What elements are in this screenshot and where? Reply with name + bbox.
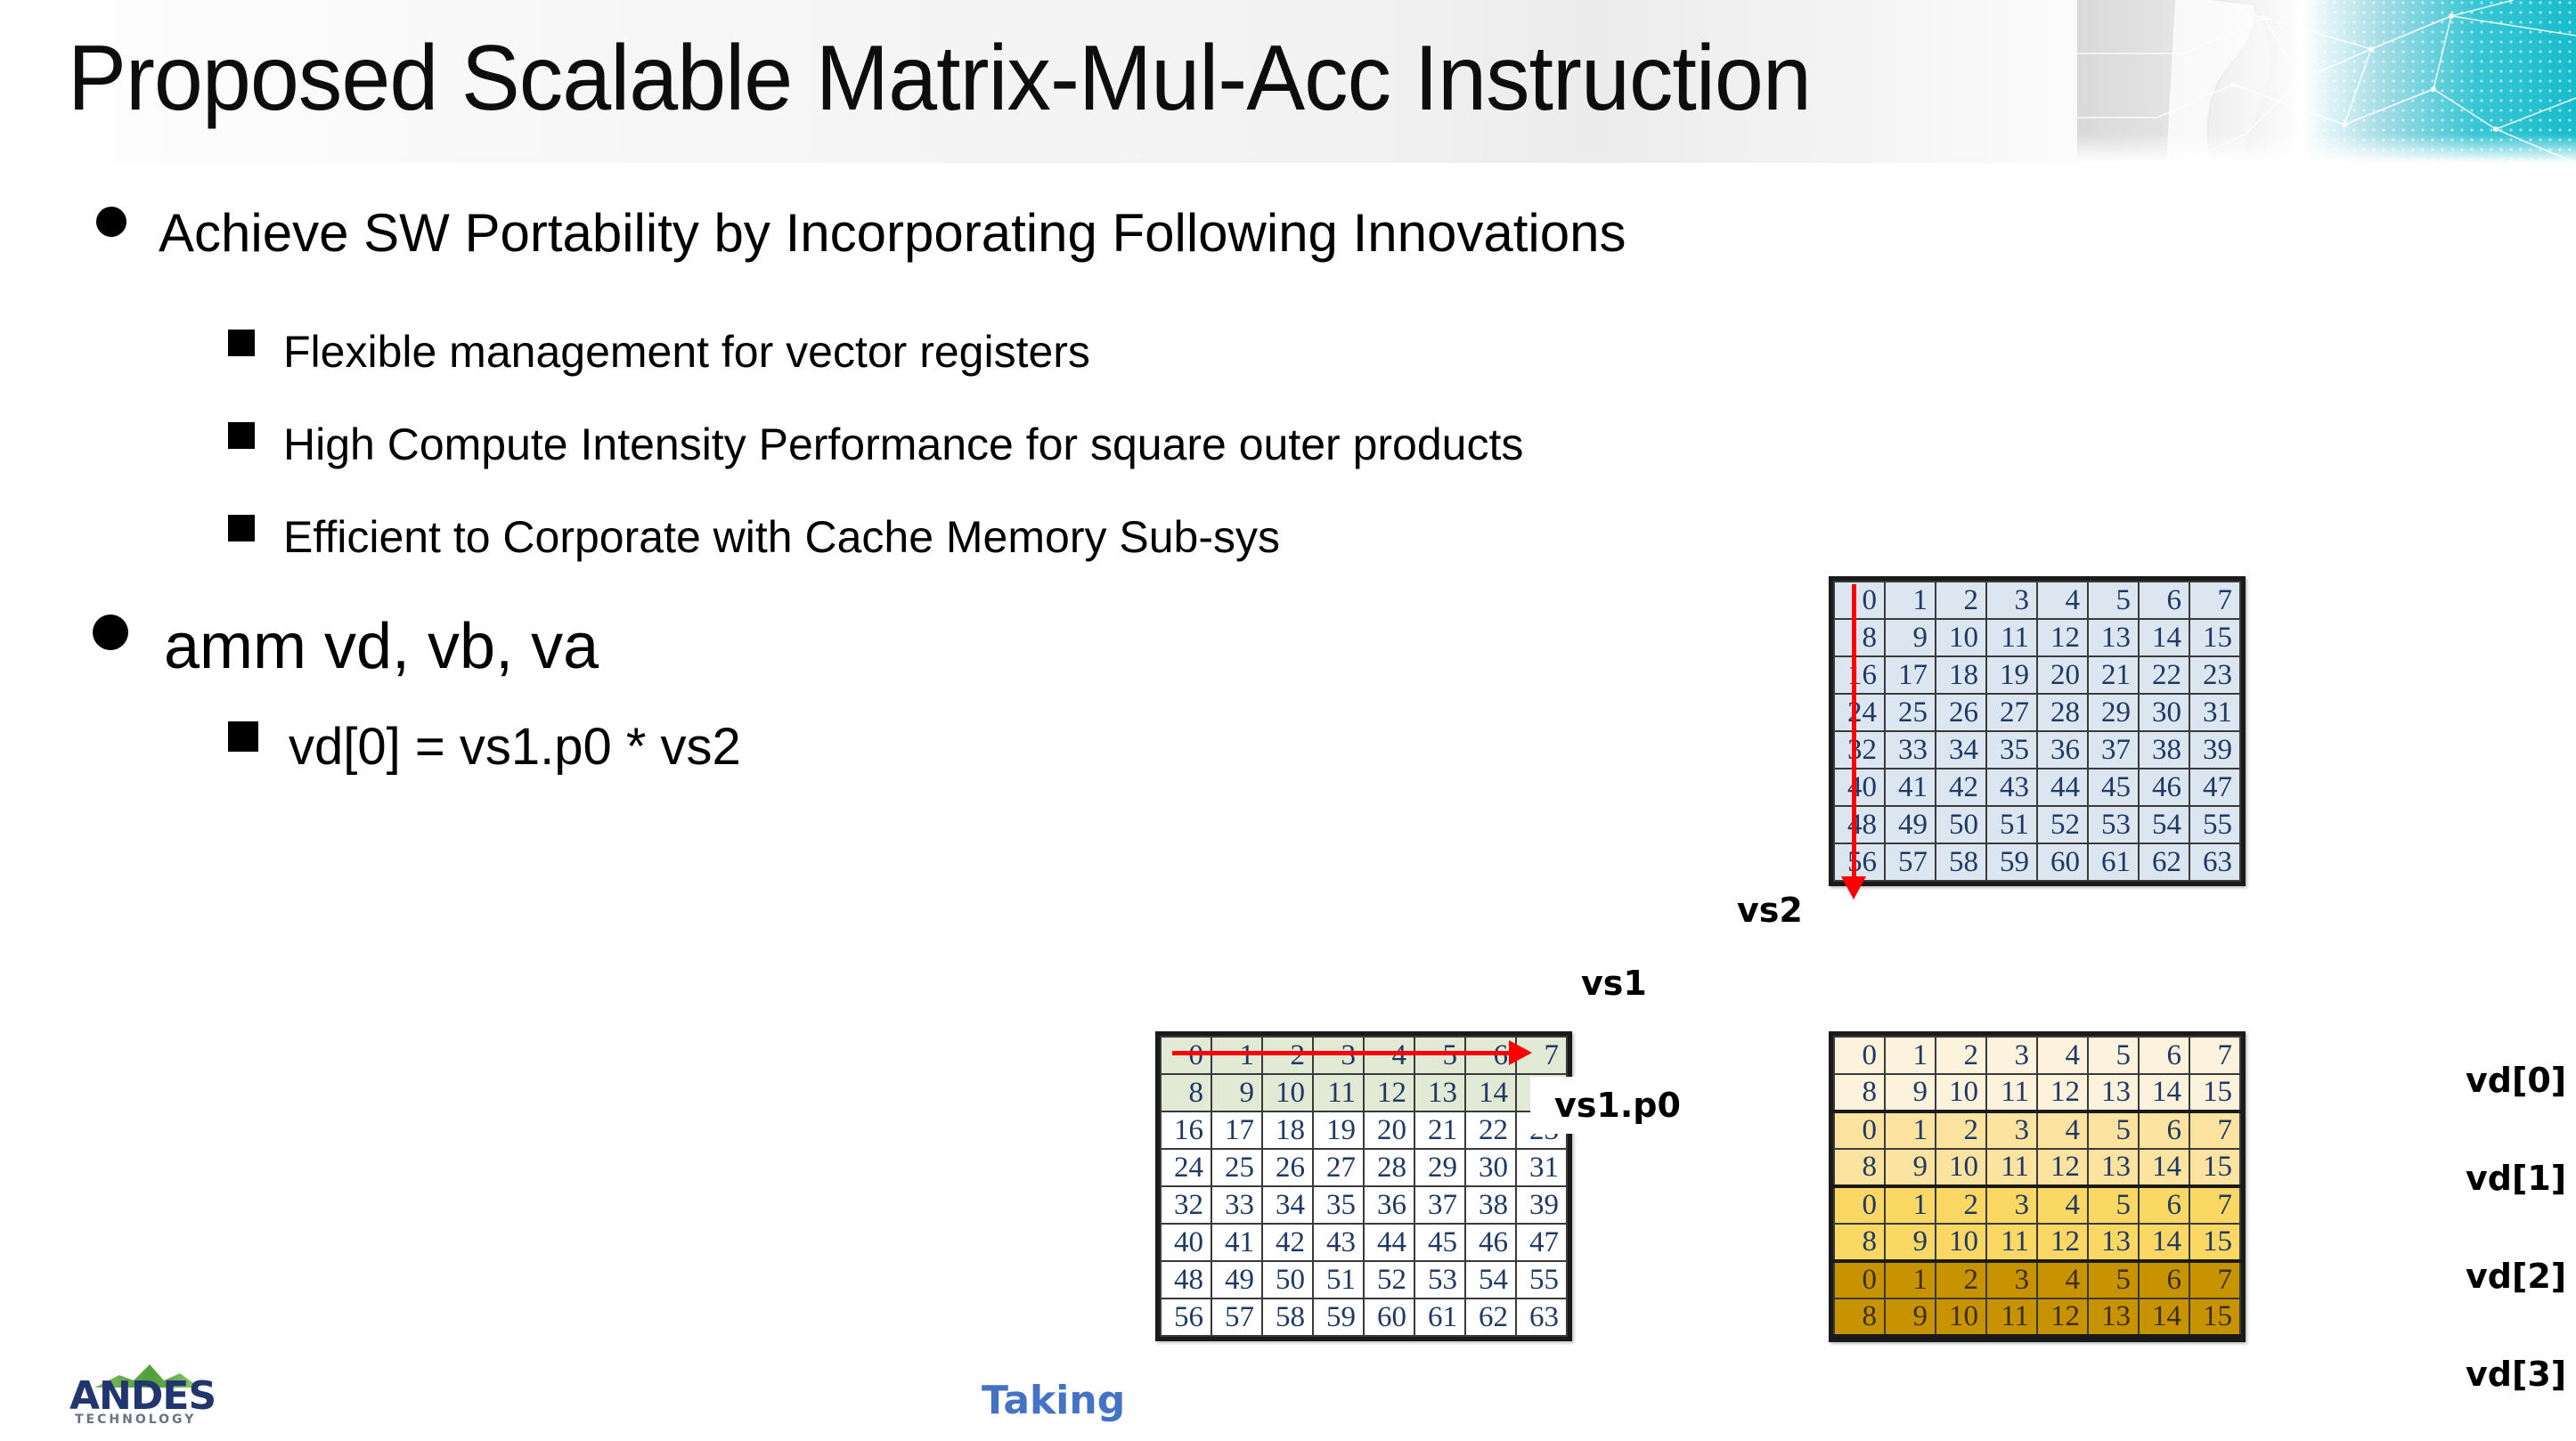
vs2-cell-r5-c1: 41	[1885, 769, 1936, 806]
vd-cell-r2-c3: 3	[1986, 1111, 2037, 1149]
vs1-cell-r7-c0: 56	[1161, 1299, 1211, 1336]
vs1-cell-r7-c6: 62	[1465, 1299, 1516, 1336]
vs2-cell-r5-c6: 46	[2139, 769, 2189, 806]
vd-cell-r2-c0: 0	[1834, 1111, 1885, 1149]
bullet-square-icon	[228, 422, 255, 449]
vd-cell-r4-c7: 7	[2189, 1186, 2240, 1224]
vs2-label: vs2	[1737, 891, 1803, 930]
vs1-cell-r1-c3: 11	[1313, 1074, 1364, 1111]
vs1-cell-r3-c3: 27	[1313, 1149, 1364, 1186]
vd-cell-r0-c0: 0	[1834, 1037, 1885, 1074]
table-row: 1617181920212223	[1161, 1111, 1567, 1149]
vs2-cell-r1-c7: 15	[2189, 619, 2240, 656]
vs2-cell-r7-c1: 57	[1885, 843, 1936, 881]
vd-label-2: vd[2]	[2466, 1257, 2566, 1296]
vd-cell-r1-c2: 10	[1936, 1074, 1986, 1111]
vs2-cell-r7-c2: 58	[1936, 843, 1986, 881]
vd-cell-r0-c1: 1	[1885, 1037, 1936, 1074]
vd-cell-r6-c6: 6	[2139, 1261, 2189, 1299]
vd-cell-r1-c0: 8	[1834, 1074, 1885, 1111]
taking-label: Taking	[982, 1378, 1125, 1423]
vs2-cell-r2-c4: 20	[2037, 656, 2088, 694]
vd-cell-r7-c6: 14	[2139, 1299, 2189, 1336]
vs2-cell-r3-c2: 26	[1936, 694, 1986, 731]
vs2-cell-r5-c7: 47	[2189, 769, 2240, 806]
bullet-item-2: amm vd, vb, va	[93, 615, 599, 679]
vd-cell-r5-c2: 10	[1936, 1224, 1986, 1261]
table-row: 3233343536373839	[1161, 1186, 1567, 1224]
table-row: 4849505152535455	[1834, 806, 2240, 843]
vd-cell-r5-c3: 11	[1986, 1224, 2037, 1261]
vs1-cell-r7-c4: 60	[1364, 1299, 1414, 1336]
svg-text:TECHNOLOGY: TECHNOLOGY	[75, 1413, 196, 1427]
vd-cell-r7-c5: 13	[2088, 1299, 2139, 1336]
table-row: 2425262728293031	[1161, 1149, 1567, 1186]
vs1-cell-r0-c0: 0	[1161, 1037, 1211, 1074]
vd-cell-r0-c6: 6	[2139, 1037, 2189, 1074]
vs1-cell-r5-c0: 40	[1161, 1224, 1211, 1261]
vs1-cell-r4-c5: 37	[1414, 1186, 1465, 1224]
vs2-cell-r6-c7: 55	[2189, 806, 2240, 843]
vd-cell-r2-c7: 7	[2189, 1111, 2240, 1149]
table-row: 89101112131415	[1834, 1224, 2240, 1261]
vs2-cell-r5-c0: 40	[1834, 769, 1885, 806]
vs2-cell-r2-c5: 21	[2088, 656, 2139, 694]
vs1-cell-r1-c4: 12	[1364, 1074, 1414, 1111]
vs2-cell-r7-c3: 59	[1986, 843, 2037, 881]
vs1-cell-r6-c4: 52	[1364, 1261, 1414, 1299]
vs2-cell-r1-c2: 10	[1936, 619, 1986, 656]
vd-cell-r5-c7: 15	[2189, 1224, 2240, 1261]
vs1-cell-r5-c4: 44	[1364, 1224, 1414, 1261]
vs1-cell-r2-c6: 22	[1465, 1111, 1516, 1149]
vd-cell-r6-c7: 7	[2189, 1261, 2240, 1299]
vd-cell-r3-c1: 9	[1885, 1149, 1936, 1186]
vd-label-0: vd[0]	[2466, 1061, 2566, 1100]
vs2-matrix: 0123456789101112131415161718192021222324…	[1829, 576, 2246, 886]
vd-cell-r7-c7: 15	[2189, 1299, 2240, 1336]
vs2-cell-r6-c2: 50	[1936, 806, 1986, 843]
vd-cell-r4-c2: 2	[1936, 1186, 1986, 1224]
vs1-cell-r2-c4: 20	[1364, 1111, 1414, 1149]
vd-cell-r6-c5: 5	[2088, 1261, 2139, 1299]
vs1-cell-r1-c6: 14	[1465, 1074, 1516, 1111]
vs2-cell-r5-c4: 44	[2037, 769, 2088, 806]
vs1-cell-r6-c2: 50	[1262, 1261, 1313, 1299]
arrowhead-right-icon	[1509, 1040, 1532, 1065]
vs1-cell-r3-c0: 24	[1161, 1149, 1211, 1186]
vd-cell-r6-c4: 4	[2037, 1261, 2088, 1299]
vs2-cell-r3-c6: 30	[2139, 694, 2189, 731]
vs1-matrix: 0123456789101112131415161718192021222324…	[1155, 1031, 1572, 1341]
vs2-cell-r0-c2: 2	[1936, 582, 1986, 619]
vd-cell-r6-c0: 0	[1834, 1261, 1885, 1299]
vs1-table: 0123456789101112131415161718192021222324…	[1160, 1036, 1568, 1337]
vs2-column-arrow-icon	[1852, 584, 1856, 878]
vs2-cell-r7-c5: 61	[2088, 843, 2139, 881]
vs1-cell-r0-c2: 2	[1262, 1037, 1313, 1074]
table-row: 01234567	[1834, 1037, 2240, 1074]
vs2-cell-r0-c6: 6	[2139, 582, 2189, 619]
vs2-cell-r2-c0: 16	[1834, 656, 1885, 694]
vs1-cell-r2-c1: 17	[1211, 1111, 1262, 1149]
vs1-cell-r4-c6: 38	[1465, 1186, 1516, 1224]
vd-cell-r1-c4: 12	[2037, 1074, 2088, 1111]
vd-cell-r5-c0: 8	[1834, 1224, 1885, 1261]
vs1-cell-r6-c3: 51	[1313, 1261, 1364, 1299]
vs1-cell-r5-c3: 43	[1313, 1224, 1364, 1261]
table-row: 01234567	[1834, 1111, 2240, 1149]
bullet-square-icon	[228, 330, 255, 356]
vd-label-3: vd[3]	[2466, 1355, 2566, 1394]
table-row: 89101112131415	[1161, 1074, 1567, 1111]
vs2-cell-r1-c0: 8	[1834, 619, 1885, 656]
vs2-cell-r4-c6: 38	[2139, 731, 2189, 769]
vs1-cell-r2-c5: 21	[1414, 1111, 1465, 1149]
vs2-cell-r3-c3: 27	[1986, 694, 2037, 731]
table-row: 01234567	[1834, 1186, 2240, 1224]
vd-cell-r7-c3: 11	[1986, 1299, 2037, 1336]
vs2-cell-r7-c6: 62	[2139, 843, 2189, 881]
vd-cell-r4-c3: 3	[1986, 1186, 2037, 1224]
vd-cell-r1-c1: 9	[1885, 1074, 1936, 1111]
vs1-cell-r6-c1: 49	[1211, 1261, 1262, 1299]
vs2-cell-r7-c0: 56	[1834, 843, 1885, 881]
slide-header-band: Proposed Scalable Matrix-Mul-Acc Instruc…	[0, 0, 2576, 163]
vs1-cell-r7-c3: 59	[1313, 1299, 1364, 1336]
vs1-cell-r6-c5: 53	[1414, 1261, 1465, 1299]
vs2-cell-r2-c2: 18	[1936, 656, 1986, 694]
sub-bullet-3-label: Efficient to Corporate with Cache Memory…	[283, 515, 1280, 559]
vd-cell-r2-c4: 4	[2037, 1111, 2088, 1149]
vd-cell-r7-c0: 8	[1834, 1299, 1885, 1336]
vs2-table: 0123456789101112131415161718192021222324…	[1833, 581, 2241, 882]
vd-cell-r5-c5: 13	[2088, 1224, 2139, 1261]
table-row: 2425262728293031	[1834, 694, 2240, 731]
vs2-cell-r6-c5: 53	[2088, 806, 2139, 843]
vs1-row-arrow-icon	[1172, 1051, 1511, 1055]
table-row: 01234567	[1834, 582, 2240, 619]
vd-cell-r1-c3: 11	[1986, 1074, 2037, 1111]
table-row: 89101112131415	[1834, 1299, 2240, 1336]
bullet-square-icon	[228, 515, 255, 541]
sub-bullet-2-label: High Compute Intensity Performance for s…	[283, 422, 1523, 467]
vd-cell-r1-c7: 15	[2189, 1074, 2240, 1111]
vs2-cell-r4-c7: 39	[2189, 731, 2240, 769]
vs2-cell-r3-c4: 28	[2037, 694, 2088, 731]
vs2-cell-r5-c3: 43	[1986, 769, 2037, 806]
bullet-dot-icon	[93, 615, 128, 650]
vs2-cell-r2-c1: 17	[1885, 656, 1936, 694]
vs1-cell-r4-c4: 36	[1364, 1186, 1414, 1224]
sub-bullet-item-4: vd[0] = vs1.p0 * vs2	[228, 721, 741, 773]
vd-cell-r5-c6: 14	[2139, 1224, 2189, 1261]
vs2-cell-r6-c4: 52	[2037, 806, 2088, 843]
vs1-cell-r2-c2: 18	[1262, 1111, 1313, 1149]
vd-cell-r7-c2: 10	[1936, 1299, 1986, 1336]
vd-cell-r0-c2: 2	[1936, 1037, 1986, 1074]
vd-cell-r6-c3: 3	[1986, 1261, 2037, 1299]
table-row: 89101112131415	[1834, 619, 2240, 656]
table-row: 5657585960616263	[1161, 1299, 1567, 1336]
vs1-cell-r5-c2: 42	[1262, 1224, 1313, 1261]
vs1-cell-r6-c6: 54	[1465, 1261, 1516, 1299]
vs1-cell-r5-c6: 46	[1465, 1224, 1516, 1261]
vs2-cell-r1-c3: 11	[1986, 619, 2037, 656]
vs1-cell-r3-c4: 28	[1364, 1149, 1414, 1186]
vs1-cell-r3-c7: 31	[1516, 1149, 1567, 1186]
vd-cell-r3-c5: 13	[2088, 1149, 2139, 1186]
network-head-graphic-icon	[2077, 0, 2576, 163]
vs2-cell-r4-c3: 35	[1986, 731, 2037, 769]
vs2-cell-r0-c5: 5	[2088, 582, 2139, 619]
vd-cell-r4-c1: 1	[1885, 1186, 1936, 1224]
vs2-cell-r4-c5: 37	[2088, 731, 2139, 769]
arrowhead-down-icon	[1841, 876, 1866, 900]
vs2-cell-r2-c7: 23	[2189, 656, 2240, 694]
vs1-cell-r5-c5: 45	[1414, 1224, 1465, 1261]
andes-technology-logo: ANDES TECHNOLOGY	[68, 1354, 259, 1427]
vd-cell-r3-c7: 15	[2189, 1149, 2240, 1186]
vs2-cell-r1-c4: 12	[2037, 619, 2088, 656]
bullet-2-label: amm vd, vb, va	[164, 615, 599, 679]
vs1-cell-r0-c3: 3	[1313, 1037, 1364, 1074]
vs2-cell-r1-c1: 9	[1885, 619, 1936, 656]
table-row: 01234567	[1161, 1037, 1567, 1074]
vs2-cell-r6-c0: 48	[1834, 806, 1885, 843]
table-row: 4041424344454647	[1834, 769, 2240, 806]
vs2-cell-r3-c7: 31	[2189, 694, 2240, 731]
vd-cell-r1-c6: 14	[2139, 1074, 2189, 1111]
vd-cell-r4-c0: 0	[1834, 1186, 1885, 1224]
vs1-cell-r7-c5: 61	[1414, 1299, 1465, 1336]
table-row: 3233343536373839	[1834, 731, 2240, 769]
vd-cell-r6-c2: 2	[1936, 1261, 1986, 1299]
vs1-cell-r6-c7: 55	[1516, 1261, 1567, 1299]
vs2-cell-r6-c6: 54	[2139, 806, 2189, 843]
vs2-cell-r3-c1: 25	[1885, 694, 1936, 731]
vd-cell-r2-c6: 6	[2139, 1111, 2189, 1149]
vs2-cell-r0-c1: 1	[1885, 582, 1936, 619]
vs2-cell-r4-c0: 32	[1834, 731, 1885, 769]
bullet-square-icon	[228, 721, 258, 752]
vd-label-1: vd[1]	[2466, 1159, 2566, 1198]
vd-cell-r3-c2: 10	[1936, 1149, 1986, 1186]
vd-cell-r2-c2: 2	[1936, 1111, 1986, 1149]
vs1-cell-r1-c5: 13	[1414, 1074, 1465, 1111]
sub-bullet-4-label: vd[0] = vs1.p0 * vs2	[289, 721, 741, 773]
vs2-cell-r0-c7: 7	[2189, 582, 2240, 619]
vd-cell-r3-c3: 11	[1986, 1149, 2037, 1186]
sub-bullet-1-label: Flexible management for vector registers	[283, 330, 1090, 374]
vd-cell-r7-c4: 12	[2037, 1299, 2088, 1336]
vs1-p0-label: vs1.p0	[1530, 1077, 1705, 1134]
vs1-cell-r1-c0: 8	[1161, 1074, 1211, 1111]
vs1-cell-r7-c7: 63	[1516, 1299, 1567, 1336]
vd-cell-r3-c4: 12	[2037, 1149, 2088, 1186]
vd-cell-r3-c0: 8	[1834, 1149, 1885, 1186]
vs1-cell-r1-c2: 10	[1262, 1074, 1313, 1111]
vd-cell-r5-c4: 12	[2037, 1224, 2088, 1261]
vs2-cell-r4-c2: 34	[1936, 731, 1986, 769]
vs2-cell-r6-c3: 51	[1986, 806, 2037, 843]
vd-cell-r6-c1: 1	[1885, 1261, 1936, 1299]
vs1-cell-r5-c1: 41	[1211, 1224, 1262, 1261]
vs2-cell-r0-c0: 0	[1834, 582, 1885, 619]
vs2-cell-r3-c0: 24	[1834, 694, 1885, 731]
vd-cell-r0-c5: 5	[2088, 1037, 2139, 1074]
table-row: 89101112131415	[1834, 1149, 2240, 1186]
sub-bullet-item-3: Efficient to Corporate with Cache Memory…	[228, 515, 1280, 559]
vs2-cell-r1-c5: 13	[2088, 619, 2139, 656]
vs2-cell-r1-c6: 14	[2139, 619, 2189, 656]
vs1-cell-r2-c0: 16	[1161, 1111, 1211, 1149]
table-row: 01234567	[1834, 1261, 2240, 1299]
vs2-cell-r2-c6: 22	[2139, 656, 2189, 694]
vs2-cell-r3-c5: 29	[2088, 694, 2139, 731]
page-title: Proposed Scalable Matrix-Mul-Acc Instruc…	[68, 16, 1811, 141]
vs1-cell-r0-c5: 5	[1414, 1037, 1465, 1074]
bullet-dot-icon	[96, 207, 126, 237]
vd-matrix: 0123456789101112131415012345678910111213…	[1829, 1031, 2246, 1342]
vd-cell-r4-c4: 4	[2037, 1186, 2088, 1224]
vs1-cell-r7-c1: 57	[1211, 1299, 1262, 1336]
vs1-cell-r4-c0: 32	[1161, 1186, 1211, 1224]
vd-cell-r2-c5: 5	[2088, 1111, 2139, 1149]
vs2-cell-r5-c5: 45	[2088, 769, 2139, 806]
table-row: 1617181920212223	[1834, 656, 2240, 694]
vs2-cell-r7-c4: 60	[2037, 843, 2088, 881]
bullet-item-1: Achieve SW Portability by Incorporating …	[96, 207, 1626, 260]
vs1-cell-r1-c1: 9	[1211, 1074, 1262, 1111]
vd-cell-r4-c6: 6	[2139, 1186, 2189, 1224]
bullet-1-label: Achieve SW Portability by Incorporating …	[159, 207, 1626, 260]
vs1-label: vs1	[1581, 964, 1647, 1003]
vs1-cell-r2-c3: 19	[1313, 1111, 1364, 1149]
vs1-cell-r7-c2: 58	[1262, 1299, 1313, 1336]
vd-cell-r0-c3: 3	[1986, 1037, 2037, 1074]
vd-table: 0123456789101112131415012345678910111213…	[1833, 1036, 2241, 1338]
vs1-cell-r4-c3: 35	[1313, 1186, 1364, 1224]
table-row: 89101112131415	[1834, 1074, 2240, 1111]
vs2-cell-r4-c1: 33	[1885, 731, 1936, 769]
vs2-cell-r7-c7: 63	[2189, 843, 2240, 881]
vs1-cell-r4-c7: 39	[1516, 1186, 1567, 1224]
vs1-cell-r0-c1: 1	[1211, 1037, 1262, 1074]
vs1-cell-r3-c6: 30	[1465, 1149, 1516, 1186]
vd-cell-r2-c1: 1	[1885, 1111, 1936, 1149]
sub-bullet-item-2: High Compute Intensity Performance for s…	[228, 422, 1523, 467]
vs1-cell-r3-c1: 25	[1211, 1149, 1262, 1186]
vs2-cell-r2-c3: 19	[1986, 656, 2037, 694]
vd-cell-r0-c4: 4	[2037, 1037, 2088, 1074]
table-row: 4849505152535455	[1161, 1261, 1567, 1299]
table-row: 5657585960616263	[1834, 843, 2240, 881]
vd-cell-r4-c5: 5	[2088, 1186, 2139, 1224]
vs2-cell-r4-c4: 36	[2037, 731, 2088, 769]
vs2-cell-r0-c3: 3	[1986, 582, 2037, 619]
vs1-cell-r6-c0: 48	[1161, 1261, 1211, 1299]
vs1-cell-r3-c2: 26	[1262, 1149, 1313, 1186]
vs1-cell-r4-c1: 33	[1211, 1186, 1262, 1224]
vs1-cell-r4-c2: 34	[1262, 1186, 1313, 1224]
vs1-cell-r0-c4: 4	[1364, 1037, 1414, 1074]
vs2-cell-r0-c4: 4	[2037, 582, 2088, 619]
vs1-cell-r3-c5: 29	[1414, 1149, 1465, 1186]
vd-cell-r7-c1: 9	[1885, 1299, 1936, 1336]
sub-bullet-item-1: Flexible management for vector registers	[228, 330, 1090, 374]
table-row: 4041424344454647	[1161, 1224, 1567, 1261]
vs2-cell-r6-c1: 49	[1885, 806, 1936, 843]
vd-cell-r3-c6: 14	[2139, 1149, 2189, 1186]
vd-cell-r0-c7: 7	[2189, 1037, 2240, 1074]
vd-cell-r1-c5: 13	[2088, 1074, 2139, 1111]
vs2-cell-r5-c2: 42	[1936, 769, 1986, 806]
vd-cell-r5-c1: 9	[1885, 1224, 1936, 1261]
vs1-cell-r5-c7: 47	[1516, 1224, 1567, 1261]
